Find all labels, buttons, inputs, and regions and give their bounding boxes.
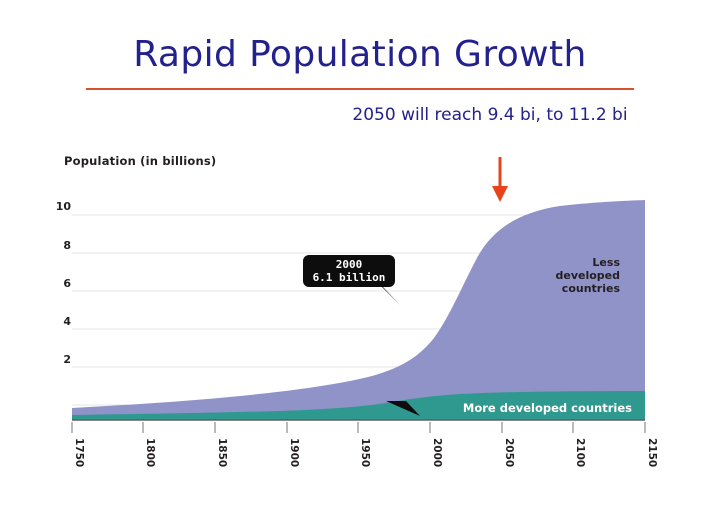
page-title: Rapid Population Growth bbox=[0, 34, 720, 75]
area-less-developed bbox=[72, 200, 645, 420]
y-tick-8: 8 bbox=[63, 239, 71, 252]
x-tick-1950: 1950 bbox=[359, 438, 371, 467]
y-tick-10: 10 bbox=[56, 200, 72, 213]
series-label-more-developed: More developed countries bbox=[463, 401, 632, 415]
x-axis-ticks bbox=[72, 422, 645, 433]
population-chart: Population (in billions) 10 8 6 4 2 0 bbox=[0, 148, 720, 498]
x-tick-2100: 2100 bbox=[574, 438, 586, 467]
x-tick-1750: 1750 bbox=[73, 438, 85, 467]
less-dev-line2: developed bbox=[555, 269, 620, 282]
title-divider bbox=[86, 88, 634, 90]
x-tick-1800: 1800 bbox=[144, 438, 156, 467]
less-dev-line1: Less bbox=[592, 256, 620, 269]
callout-year: 2000 bbox=[336, 258, 363, 271]
x-tick-1850: 1850 bbox=[216, 438, 228, 467]
callout-value: 6.1 billion bbox=[313, 271, 386, 284]
y-tick-6: 6 bbox=[63, 277, 71, 290]
y-axis-ticks: 10 8 6 4 2 0 bbox=[56, 200, 83, 419]
chart-canvas: 10 8 6 4 2 0 Less developed countries Mo… bbox=[0, 148, 720, 498]
less-dev-line3: countries bbox=[562, 282, 621, 295]
x-axis-labels: 1750 1800 1850 1900 1950 2000 2050 2100 … bbox=[73, 438, 658, 467]
y-tick-4: 4 bbox=[63, 315, 71, 328]
x-tick-1900: 1900 bbox=[288, 438, 300, 467]
x-tick-2000: 2000 bbox=[431, 438, 443, 467]
x-tick-2150: 2150 bbox=[646, 438, 658, 467]
subtitle-note: 2050 will reach 9.4 bi, to 11.2 bi bbox=[340, 104, 640, 127]
y-tick-2: 2 bbox=[63, 353, 71, 366]
x-tick-2050: 2050 bbox=[503, 438, 515, 467]
